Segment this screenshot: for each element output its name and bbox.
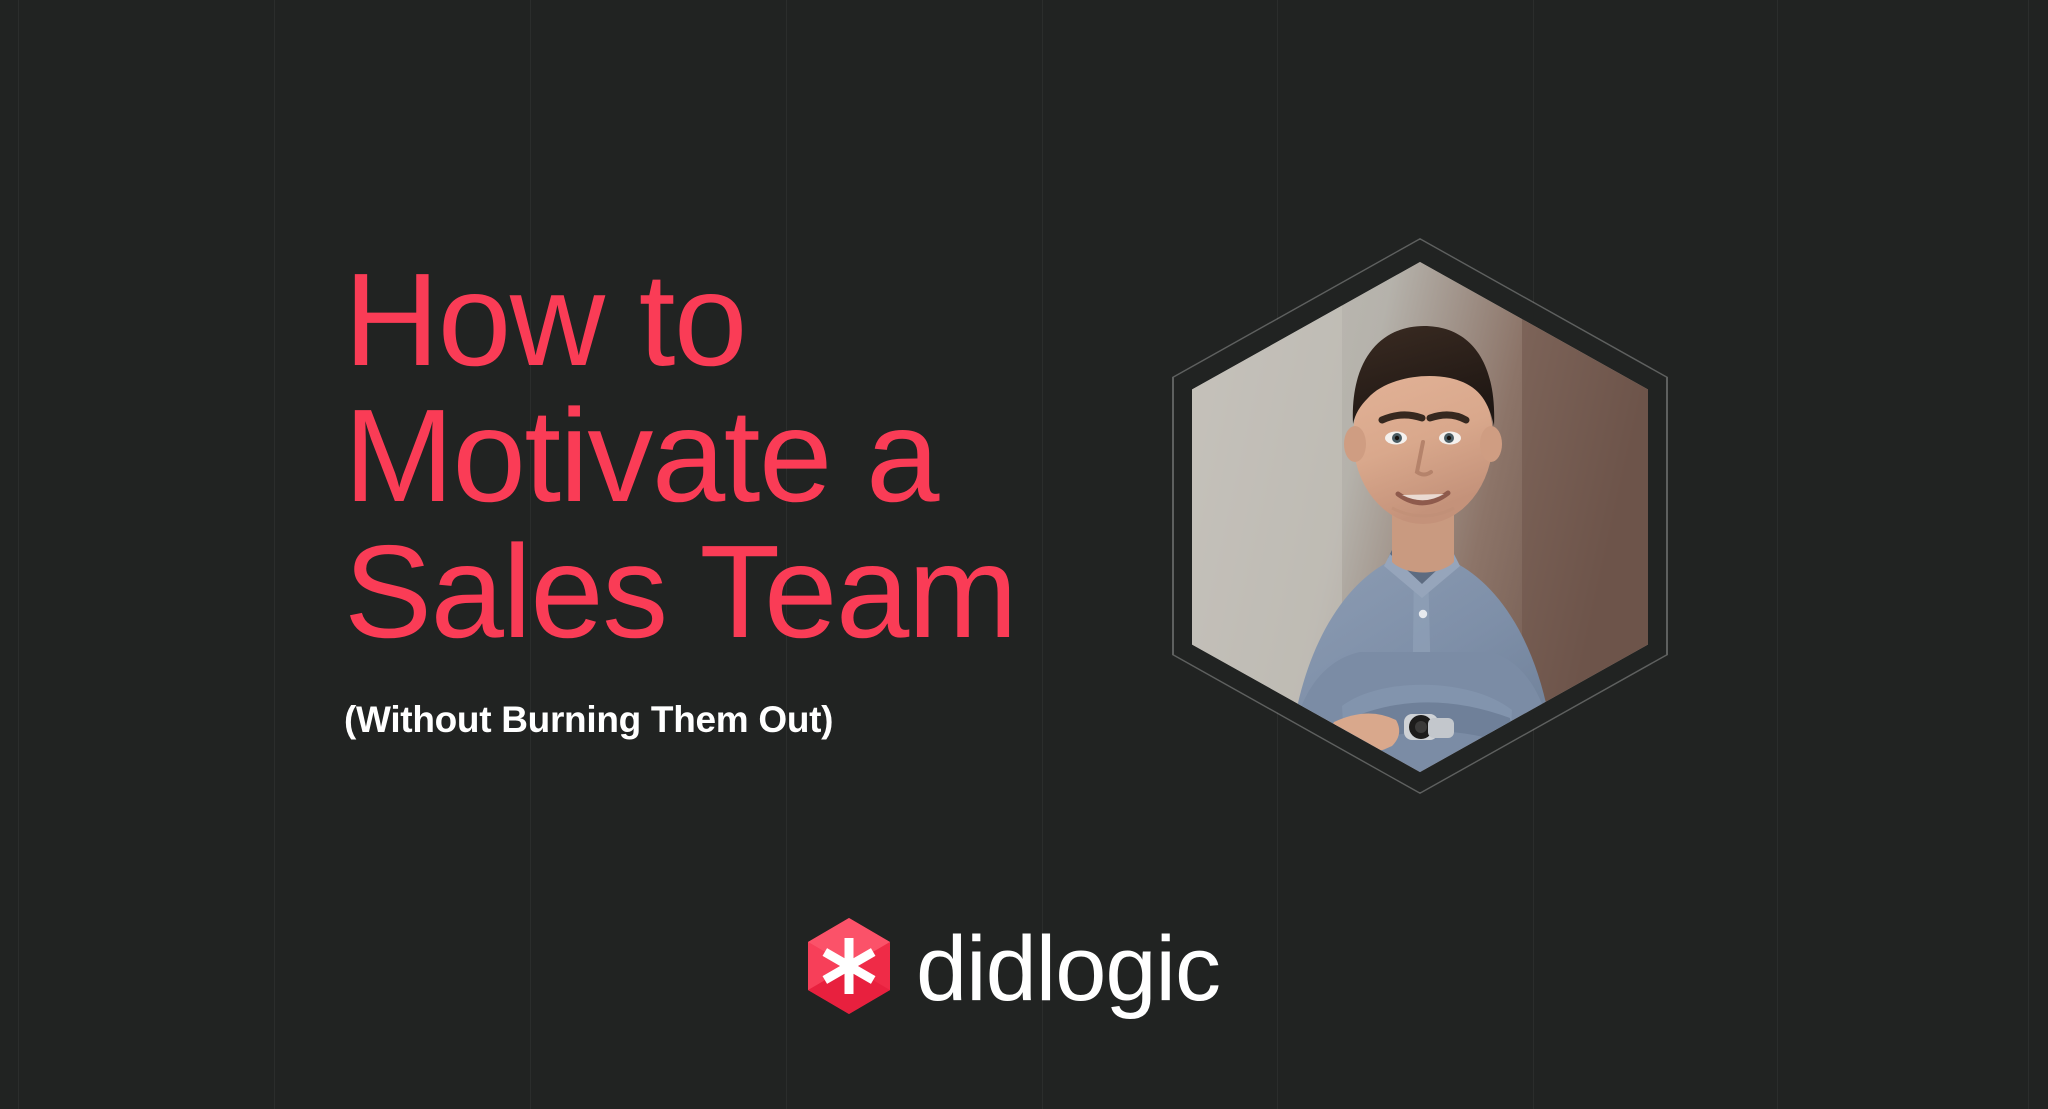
grid-line-0 (18, 0, 19, 1109)
brand-wordmark: didlogic (916, 923, 1220, 1015)
grid-line-8 (2028, 0, 2029, 1109)
grid-line-7 (1777, 0, 1778, 1109)
asterisk-hexagon-icon (808, 918, 890, 1014)
brand-logo: didlogic (808, 918, 1220, 1014)
headline-line-3: Sales Team (344, 524, 1104, 660)
blog-cover-banner: How to Motivate a Sales Team (Without Bu… (0, 0, 2048, 1109)
grid-line-1 (274, 0, 275, 1109)
headline-line-1: How to (344, 252, 1104, 388)
page-title: How to Motivate a Sales Team (344, 252, 1104, 660)
page-subtitle: (Without Burning Them Out) (344, 698, 1104, 742)
headline-line-2: Motivate a (344, 388, 1104, 524)
portrait-hexagon (1172, 238, 1668, 794)
title-block: How to Motivate a Sales Team (Without Bu… (344, 252, 1104, 742)
